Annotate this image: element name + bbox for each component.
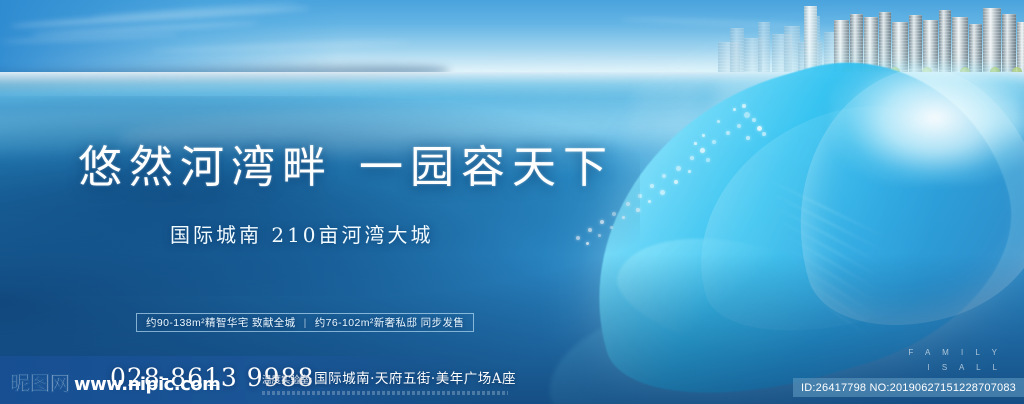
bubble — [746, 136, 750, 140]
watermark-logo-text: 昵图网 — [10, 367, 70, 396]
status-badge: ID:26417798 NO:20190627151228707083 — [793, 378, 1024, 397]
footer-bar: 028-8613 9988 温度实验室: 国际城南·天府五街·美年广场A座 昵图… — [0, 356, 1024, 404]
image-id-text: ID:26417798 NO:20190627151228707083 — [801, 382, 1016, 394]
headline-left: 悠然河湾畔 — [78, 142, 333, 193]
bubble — [690, 156, 694, 160]
bubble — [694, 142, 697, 145]
bubble — [726, 131, 730, 135]
bubble — [762, 132, 766, 136]
bubble — [650, 184, 654, 188]
bubble — [662, 174, 666, 178]
watermark: 昵图网 www.nipic.com — [10, 367, 220, 396]
bubble — [737, 124, 741, 128]
bubble — [752, 118, 756, 122]
offer-right-text: 约76-102m²新奢私邸 同步发售 — [315, 315, 465, 330]
subtitle: 国际城南 210亩河湾大城 — [170, 219, 434, 248]
headline-right: 一园容天下 — [359, 142, 614, 193]
address-microtext — [262, 391, 508, 395]
poster-canvas: 悠然河湾畔一园容天下 国际城南 210亩河湾大城 约90-138m²精智华宅 致… — [0, 0, 1024, 404]
address-label: 温度实验室: — [262, 372, 312, 386]
bubble — [744, 112, 750, 118]
offer-left-text: 约90-138m²精智华宅 致献全城 — [146, 315, 296, 330]
bubble — [757, 126, 762, 131]
watermark-url: www.nipic.com — [74, 374, 220, 395]
whale-head-glow — [830, 64, 1020, 184]
bubble — [676, 166, 681, 171]
bubble — [660, 190, 665, 195]
bubble — [702, 134, 705, 137]
address-text: 国际城南·天府五街·美年广场A座 — [314, 367, 516, 387]
bubble — [706, 158, 710, 162]
offer-badge: 约90-138m²精智华宅 致献全城 | 约76-102m²新奢私邸 同步发售 — [136, 313, 474, 332]
page-title: 悠然河湾畔一园容天下 — [78, 146, 614, 190]
sales-address: 温度实验室: 国际城南·天府五街·美年广场A座 — [262, 367, 516, 387]
offer-separator: | — [303, 317, 308, 329]
